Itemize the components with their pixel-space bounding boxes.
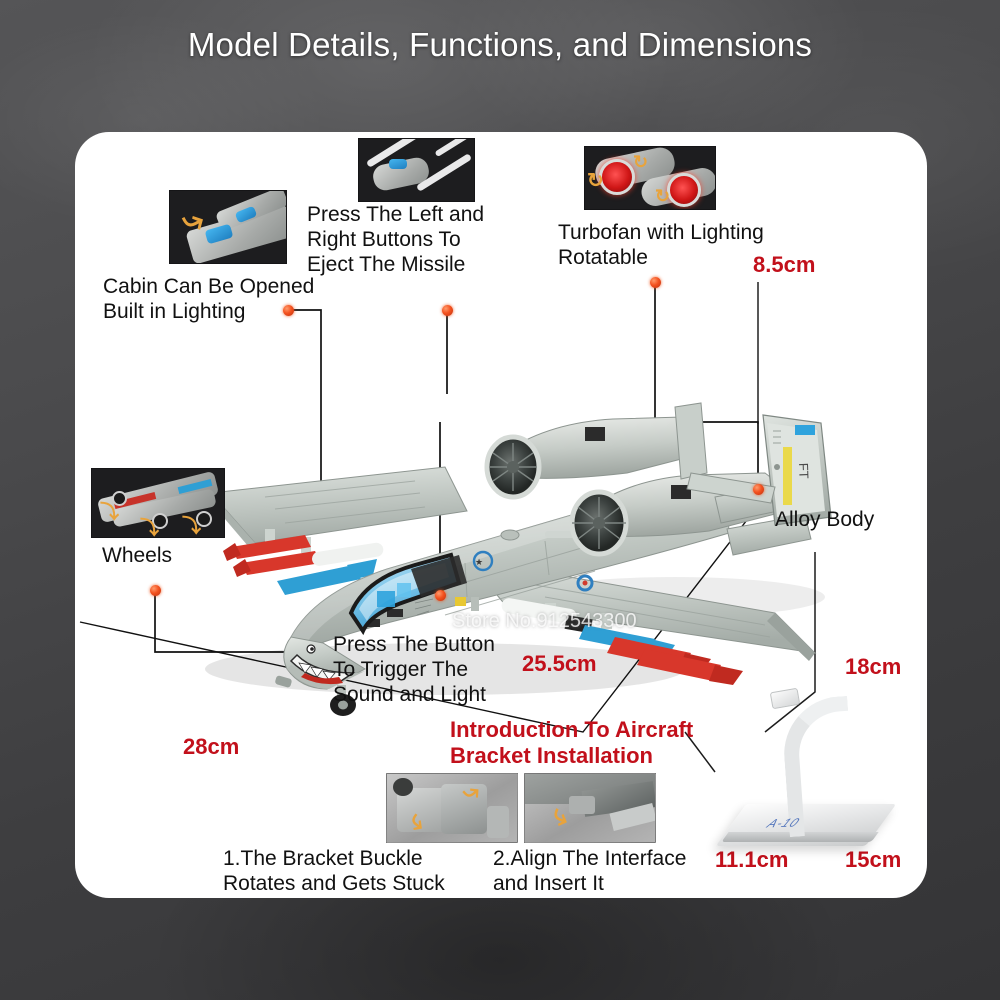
- dimension-stand-height: 18cm: [845, 654, 901, 680]
- callout-label-turbofan: Turbofan with Lighting Rotatable: [558, 220, 764, 270]
- thumb-bracket-buckle: ⤷ ⤷: [386, 773, 518, 843]
- thumb-foldable-wheels: ⤵ ⤵ ⤵: [91, 468, 225, 538]
- infographic-root: Model Details, Functions, and Dimensions: [0, 0, 1000, 1000]
- page-title: Model Details, Functions, and Dimensions: [0, 26, 1000, 64]
- store-watermark: Store No.912543300: [452, 610, 637, 633]
- display-stand-image: A-10: [723, 680, 903, 870]
- rotate-arrow-icon: ⤷: [176, 201, 209, 240]
- dimension-length: 25.5cm: [522, 651, 597, 677]
- svg-text:FT: FT: [796, 463, 812, 479]
- callout-label-alloy: Alloy Body: [775, 507, 874, 532]
- hotspot-missile: [442, 305, 453, 316]
- svg-text:★: ★: [475, 557, 483, 567]
- bracket-step-1-label: 1.The Bracket Buckle Rotates and Gets St…: [223, 846, 445, 896]
- turbofan-glow-icon: [599, 159, 635, 195]
- thumb-cabin-open: ⤷: [169, 190, 287, 264]
- hotspot-alloy: [753, 484, 764, 495]
- thumb-turbofan-lighting: ↻ ↻ ↻: [584, 146, 716, 210]
- dimension-wingspan: 28cm: [183, 734, 239, 760]
- content-card: ★: [75, 132, 927, 898]
- hotspot-wheels: [150, 585, 161, 596]
- thumb-missile-eject: [358, 138, 475, 202]
- thumb-bracket-insert: ⤷: [524, 773, 656, 843]
- callout-label-sound: Press The Button To Trigger The Sound an…: [333, 632, 495, 707]
- callout-label-missile: Press The Left and Right Buttons To Ejec…: [307, 202, 484, 277]
- stand-connector: [770, 688, 801, 710]
- bracket-section-heading: Introduction To Aircraft Bracket Install…: [450, 717, 693, 769]
- hotspot-turbofan: [650, 277, 661, 288]
- callout-label-cabin: Cabin Can Be Opened Built in Lighting: [103, 274, 314, 324]
- bracket-step-2-label: 2.Align The Interface and Insert It: [493, 846, 686, 896]
- hotspot-sound: [435, 590, 446, 601]
- dimension-height: 8.5cm: [753, 252, 815, 278]
